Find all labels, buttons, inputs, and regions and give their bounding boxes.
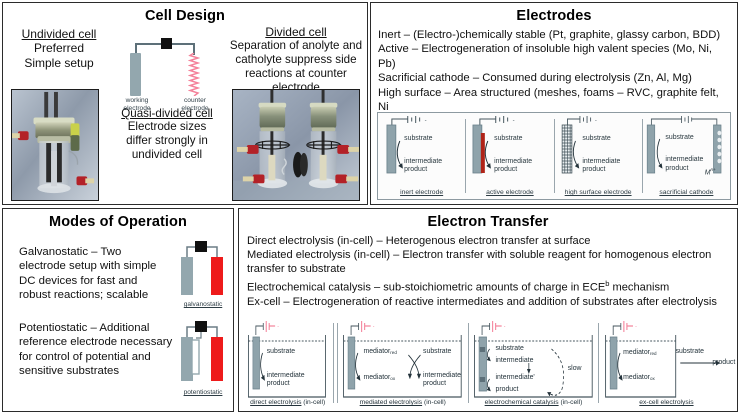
svg-text:-: -	[373, 323, 375, 330]
high-surface-electrode-caption: high surface electrode	[555, 189, 642, 196]
divided-cell-line-1: Separation of anolyte and	[225, 39, 367, 53]
mediated-caption-main: mediated electrolysis	[360, 399, 422, 406]
excell-label-product: product	[712, 359, 735, 367]
panel-cell-design: Cell Design Undivided cell Preferred Sim…	[2, 2, 368, 205]
inert-label-substrate: substrate	[404, 135, 432, 143]
diagram-active-electrode: - substrate intermediate product active …	[466, 113, 553, 199]
undivided-cell-heading: Undivided cell	[9, 27, 109, 41]
et-divider-3	[598, 323, 599, 403]
diagram-high-surface-electrode: - substrate intermediate product high su…	[555, 113, 642, 199]
mesh-label-substrate: substrate	[582, 135, 610, 143]
svg-text:-: -	[425, 118, 427, 124]
direct-electrolysis-caption: direct electrolysis (in-cell)	[244, 399, 331, 406]
diagram-inert-electrode: - substrate intermediate product inert e…	[378, 113, 465, 199]
direct-label-intermediate: intermediate	[267, 372, 305, 380]
ex-cell-electrolysis-caption: ex-cell electrolysis	[601, 399, 732, 406]
potentiostatic-caption: potentiostatic	[169, 389, 237, 396]
svg-text:-: -	[504, 323, 506, 330]
et-divider-1b	[337, 323, 338, 403]
mediator-red-text: mediator	[363, 348, 390, 355]
panel-electrodes: Electrodes Inert – (Electro-)chemically …	[370, 2, 738, 205]
excell-caption-main: ex-cell electrolysis	[639, 399, 693, 406]
working-electrode-label-line1: working	[126, 97, 149, 104]
svg-text:-: -	[277, 323, 279, 330]
catalysis-label-intermediate: intermediate	[495, 357, 533, 365]
wire-top-left	[135, 43, 163, 45]
modes-paragraph-potentiostatic: Potentiostatic – Additional reference el…	[19, 321, 179, 378]
svg-text:-: -	[513, 118, 515, 124]
sacrificial-label-substrate: substrate	[665, 134, 693, 142]
electrodes-line-2: Active – Electrogeneration of insoluble …	[378, 42, 730, 71]
et-divider-2	[468, 323, 469, 403]
mediated-label-intermediate: intermediate	[423, 372, 461, 380]
quasi-divided-line-1: Electrode sizes	[108, 120, 226, 134]
et-divider-1	[333, 323, 334, 403]
electrode-diagram-strip: - substrate intermediate product inert e…	[377, 112, 731, 200]
electron-transfer-diagram-strip: - substrate intermediate product direct …	[244, 319, 732, 407]
figure-sheet: Cell Design Undivided cell Preferred Sim…	[0, 0, 740, 414]
panel-title-cell-design: Cell Design	[3, 8, 367, 24]
sacrificial-label-intermediate: intermediate	[665, 156, 703, 164]
et-line-4: Electrochemical catalysis – sub-stoichio…	[247, 277, 729, 295]
electron-transfer-text-block: Direct electrolysis (in-cell) – Heteroge…	[247, 234, 729, 309]
catalysis-caption-suffix: (in-cell)	[559, 399, 583, 406]
undivided-cell-line-2: Simple setup	[9, 56, 109, 71]
sacrificial-label-metal-ion: Mn+	[705, 166, 716, 177]
mesh-label-intermediate: intermediate	[582, 158, 620, 166]
active-label-intermediate: intermediate	[494, 158, 532, 166]
svg-text:-: -	[635, 324, 637, 331]
electrodes-line-4: High surface – Area structured (meshes, …	[378, 86, 730, 115]
excell-mediator-red-text: mediator	[623, 349, 650, 356]
galvanostatic-schematic	[175, 237, 231, 299]
direct-label-product: product	[267, 380, 290, 388]
ece-superscript: b	[605, 279, 609, 288]
mediated-electrolysis-caption: mediated electrolysis (in-cell)	[339, 399, 466, 406]
panel-title-electron-transfer: Electron Transfer	[239, 214, 737, 230]
diagram-mediated-electrolysis: - mediatorred mediatorox substrate inter…	[339, 319, 466, 407]
catalysis-label-substrate: substrate	[495, 345, 523, 353]
divided-cell-block: Divided cell Separation of anolyte and c…	[225, 25, 367, 95]
catalysis-label-intermediate-prime: intermediate'	[495, 374, 534, 382]
mediated-label-mediator-red: mediatorred	[363, 348, 396, 357]
working-electrode-bar	[130, 53, 141, 96]
inert-label-product: product	[404, 166, 427, 174]
catalysis-caption-main: electrochemical catalysis	[485, 399, 559, 406]
mediated-label-product: product	[423, 380, 446, 388]
quasi-divided-line-2: differ strongly in	[108, 134, 226, 148]
quasi-divided-line-3: undivided cell	[108, 148, 226, 162]
excell-label-mediator-red: mediatorred	[623, 349, 656, 358]
undivided-cell-line-1: Preferred	[9, 41, 109, 56]
svg-text:-: -	[595, 118, 597, 124]
mesh-label-product: product	[582, 166, 605, 174]
catalysis-label-slow: slow	[568, 365, 582, 373]
potentiostatic-schematic	[175, 317, 231, 387]
et-line-1: Direct electrolysis (in-cell) – Heteroge…	[247, 234, 729, 248]
divided-cell-photo	[232, 89, 360, 201]
metal-ion-charge: n+	[710, 167, 715, 172]
et-line-2: Mediated electrolysis (in-cell) – Electr…	[247, 248, 729, 262]
galvanostatic-caption: galvanostatic	[171, 301, 235, 308]
working-electrode-label: working electrode	[117, 97, 157, 112]
sacrificial-label-product: product	[665, 165, 688, 173]
mediated-caption-suffix: (in-cell)	[422, 399, 446, 406]
diagram-sacrificial-cathode: substrate intermediate product Mn+ sacri…	[643, 113, 730, 199]
undivided-cell-photo	[11, 89, 99, 201]
inert-label-intermediate: intermediate	[404, 158, 442, 166]
et-line-5: Ex-cell – Electrogeneration of reactive …	[247, 295, 729, 309]
counter-electrode-coil	[188, 53, 200, 96]
mediated-label-substrate: substrate	[423, 348, 451, 356]
electrodes-line-1: Inert – (Electro-)chemically stable (Pt,…	[378, 28, 730, 42]
working-electrode-label-line2: electrode	[123, 105, 150, 112]
power-supply-icon	[161, 38, 172, 49]
counter-electrode-label-line1: counter	[184, 97, 206, 104]
electrochemical-catalysis-caption: electrochemical catalysis (in-cell)	[470, 399, 597, 406]
diagram-ex-cell-electrolysis: - mediatorred mediatorox substrate produ…	[601, 319, 732, 407]
excell-label-substrate: substrate	[676, 348, 704, 356]
counter-electrode-label: counter electrode	[174, 97, 216, 112]
divided-cell-heading: Divided cell	[225, 25, 367, 39]
excell-label-mediator-ox: mediatorox	[623, 374, 655, 383]
diagram-electrochemical-catalysis: - substrate intermediate intermediate'	[470, 319, 597, 407]
electrodes-line-3: Sacrificial cathode – Consumed during el…	[378, 71, 730, 85]
wire-top-right	[171, 43, 195, 45]
direct-caption-main: direct electrolysis	[250, 399, 301, 406]
diagram-direct-electrolysis: - substrate intermediate product direct …	[244, 319, 331, 407]
undivided-cell-block: Undivided cell Preferred Simple setup	[9, 27, 109, 71]
et-line-3: transfer to substrate	[247, 262, 729, 276]
quasi-divided-cell-block: working electrode counter electrode Quas…	[108, 29, 226, 162]
excell-mediator-red-sub: red	[650, 351, 657, 356]
counter-electrode-label-line2: electrode	[181, 105, 208, 112]
excell-mediator-ox-text: mediator	[623, 374, 650, 381]
divided-cell-line-2: catholyte suppress side	[225, 53, 367, 67]
mediator-ox-text: mediator	[363, 374, 390, 381]
sacrificial-cathode-caption: sacrificial cathode	[643, 189, 730, 196]
mediator-ox-sub: ox	[390, 375, 395, 380]
two-electrode-schematic: working electrode counter electrode	[117, 31, 217, 103]
active-electrode-caption: active electrode	[466, 189, 553, 196]
catalysis-label-product: product	[495, 386, 518, 394]
inert-electrode-caption: inert electrode	[378, 189, 465, 196]
direct-caption-suffix: (in-cell)	[301, 399, 325, 406]
excell-mediator-ox-sub: ox	[650, 375, 655, 380]
mediated-label-mediator-ox: mediatorox	[363, 374, 395, 383]
direct-label-substrate: substrate	[267, 348, 295, 356]
modes-paragraph-galvanostatic: Galvanostatic – Two electrode setup with…	[19, 245, 169, 302]
active-label-product: product	[494, 166, 517, 174]
panel-electron-transfer: Electron Transfer Direct electrolysis (i…	[238, 208, 738, 412]
panel-title-electrodes: Electrodes	[371, 8, 737, 24]
panel-modes-of-operation: Modes of Operation Galvanostatic – Two e…	[2, 208, 234, 412]
mediator-red-sub: red	[390, 350, 397, 355]
panel-title-modes: Modes of Operation	[3, 214, 233, 230]
active-label-substrate: substrate	[494, 135, 522, 143]
